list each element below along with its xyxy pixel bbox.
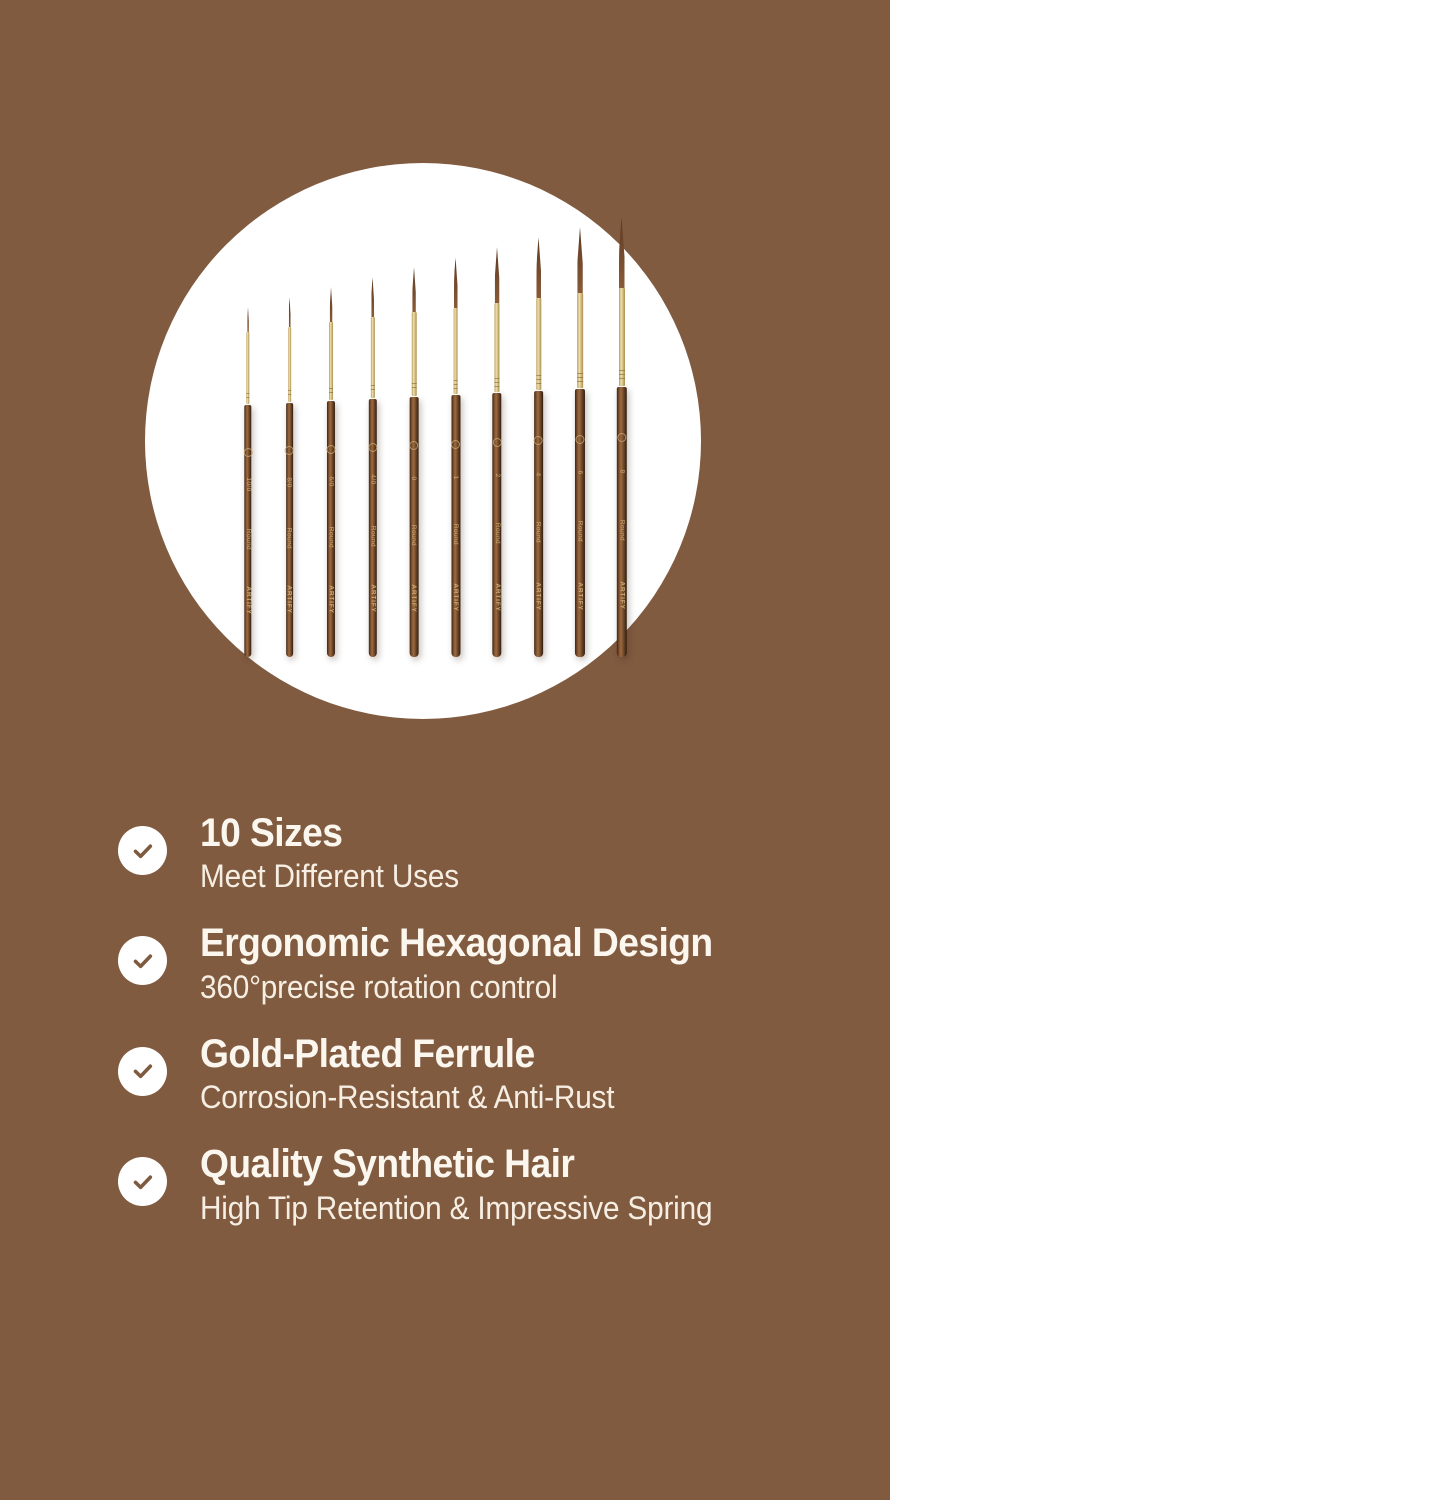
brush-handle: 0RoundARTIFY	[410, 397, 419, 657]
brush-bristle	[453, 257, 457, 309]
brush-type-label: Round	[244, 529, 251, 550]
brush-brand-label: ARTIFY	[493, 583, 500, 611]
brush-bristle	[288, 297, 290, 328]
brush-size-label: 10/0	[244, 477, 251, 491]
brush-ferrule	[370, 317, 374, 398]
feature-row: Quality Synthetic HairHigh Tip Retention…	[118, 1143, 858, 1227]
detail-brush: 6/0RoundARTIFY	[320, 287, 342, 657]
feature-subtitle: Meet Different Uses	[200, 857, 812, 896]
brush-ferrule	[288, 327, 292, 402]
brush-size-label: 6	[577, 471, 584, 475]
check-glyph	[130, 1058, 156, 1084]
feature-text: Gold-Plated FerruleCorrosion-Resistant &…	[118, 1033, 858, 1117]
feature-row: Ergonomic Hexagonal Design360°precise ro…	[118, 922, 858, 1006]
check-glyph	[130, 948, 156, 974]
brush-type-label: Round	[577, 521, 584, 542]
brush-brand-label: ARTIFY	[244, 586, 251, 614]
brush-type-label: Round	[328, 527, 335, 548]
brand-logo-icon	[243, 448, 252, 457]
brush-size-label: 8	[618, 469, 625, 473]
right-product-panel: 5/8 Small AmountCan’t Meet Most NeedPlai…	[890, 0, 1435, 1500]
feature-row: Gold-Plated FerruleCorrosion-Resistant &…	[118, 1033, 858, 1117]
brand-logo-icon	[576, 435, 585, 444]
brush-bristle	[495, 247, 500, 304]
brush-handle: 8RoundARTIFY	[616, 387, 626, 657]
brush-bristle	[619, 217, 625, 289]
brush-handle: 2RoundARTIFY	[492, 393, 501, 657]
feature-subtitle: High Tip Retention & Impressive Spring	[200, 1189, 812, 1228]
left-product-panel: 10/0RoundARTIFY8/0RoundARTIFY6/0RoundART…	[0, 0, 890, 1500]
check-glyph	[130, 838, 156, 864]
brush-type-label: Round	[535, 522, 542, 543]
comparison-infographic: 10/0RoundARTIFY8/0RoundARTIFY6/0RoundART…	[0, 0, 1435, 1500]
brush-bristle	[247, 307, 249, 333]
brush-size-label: 2	[493, 474, 500, 478]
brush-handle: 1RoundARTIFY	[451, 395, 460, 657]
brush-brand-label: ARTIFY	[286, 585, 293, 613]
brush-handle: 8/0RoundARTIFY	[286, 403, 294, 657]
brush-bristle	[412, 267, 416, 313]
brush-type-label: Round	[286, 528, 293, 549]
brand-logo-icon	[327, 445, 336, 454]
feature-title: Gold-Plated Ferrule	[200, 1033, 812, 1075]
detail-brush: 0RoundARTIFY	[403, 267, 425, 657]
brush-bristle	[577, 227, 583, 294]
brush-handle: 4/0RoundARTIFY	[368, 399, 376, 657]
detail-brush: 4/0RoundARTIFY	[362, 277, 384, 657]
brush-ferrule	[329, 322, 333, 400]
brush-type-label: Round	[411, 525, 418, 546]
brush-brand-label: ARTIFY	[411, 584, 418, 612]
brush-brand-label: ARTIFY	[452, 583, 459, 611]
detail-brush: 1RoundARTIFY	[445, 257, 467, 657]
pros-feature-list: 10 SizesMeet Different UsesErgonomic Hex…	[118, 812, 858, 1228]
brush-type-label: Round	[493, 523, 500, 544]
check-circle-icon	[118, 826, 167, 875]
brush-size-label: 1	[452, 475, 459, 479]
detail-brush: 10/0RoundARTIFY	[237, 307, 259, 657]
brush-ferrule	[246, 332, 249, 404]
brush-handle: 4RoundARTIFY	[534, 391, 544, 657]
brush-size-label: 8/0	[286, 478, 293, 488]
detail-brush: 2RoundARTIFY	[486, 247, 508, 657]
brush-ferrule	[619, 288, 625, 386]
brand-logo-icon	[410, 441, 419, 450]
brush-size-label: 0	[411, 476, 418, 480]
feature-row: 10 SizesMeet Different Uses	[118, 812, 858, 896]
brand-logo-icon	[617, 433, 626, 442]
brush-ferrule	[577, 293, 583, 388]
detail-brush: 8RoundARTIFY	[611, 217, 633, 657]
brand-logo-icon	[451, 440, 460, 449]
brand-logo-icon	[368, 443, 377, 452]
feature-subtitle: Corrosion-Resistant & Anti-Rust	[200, 1078, 812, 1117]
brush-brand-label: ARTIFY	[618, 582, 625, 610]
feature-text: Ergonomic Hexagonal Design360°precise ro…	[118, 922, 858, 1006]
detail-brush: 6RoundARTIFY	[569, 227, 591, 657]
brush-handle: 6RoundARTIFY	[575, 389, 585, 657]
brush-brand-label: ARTIFY	[577, 582, 584, 610]
detail-brush-group: 10/0RoundARTIFY8/0RoundARTIFY6/0RoundART…	[145, 163, 701, 719]
brush-type-label: Round	[369, 526, 376, 547]
feature-text: 10 SizesMeet Different Uses	[118, 812, 858, 896]
check-circle-icon	[118, 1157, 167, 1206]
left-hero-circle: 10/0RoundARTIFY8/0RoundARTIFY6/0RoundART…	[145, 163, 701, 719]
brand-logo-icon	[492, 438, 501, 447]
feature-text: Quality Synthetic HairHigh Tip Retention…	[118, 1143, 858, 1227]
detail-brush: 4RoundARTIFY	[528, 237, 550, 657]
brush-ferrule	[536, 298, 541, 390]
brush-ferrule	[494, 303, 499, 392]
brand-logo-icon	[534, 436, 543, 445]
brush-ferrule	[453, 308, 458, 394]
brush-size-label: 6/0	[328, 476, 335, 486]
brush-size-label: 4/0	[369, 475, 376, 485]
feature-title: Quality Synthetic Hair	[200, 1143, 812, 1185]
brush-handle: 6/0RoundARTIFY	[327, 401, 335, 657]
brush-bristle	[536, 237, 541, 299]
brush-handle: 10/0RoundARTIFY	[244, 405, 251, 657]
check-glyph	[130, 1169, 156, 1195]
brush-ferrule	[412, 312, 417, 396]
brush-type-label: Round	[618, 520, 625, 541]
feature-title: Ergonomic Hexagonal Design	[200, 922, 812, 964]
brush-size-label: 4	[535, 472, 542, 476]
brush-brand-label: ARTIFY	[328, 585, 335, 613]
feature-title: 10 Sizes	[200, 812, 812, 854]
check-circle-icon	[118, 1047, 167, 1096]
brush-brand-label: ARTIFY	[535, 583, 542, 611]
detail-brush: 8/0RoundARTIFY	[279, 297, 301, 657]
brand-logo-icon	[285, 446, 294, 455]
feature-subtitle: 360°precise rotation control	[200, 968, 812, 1007]
brush-bristle	[371, 277, 374, 318]
brush-brand-label: ARTIFY	[369, 584, 376, 612]
brush-type-label: Round	[452, 524, 459, 545]
brush-bristle	[330, 287, 333, 323]
